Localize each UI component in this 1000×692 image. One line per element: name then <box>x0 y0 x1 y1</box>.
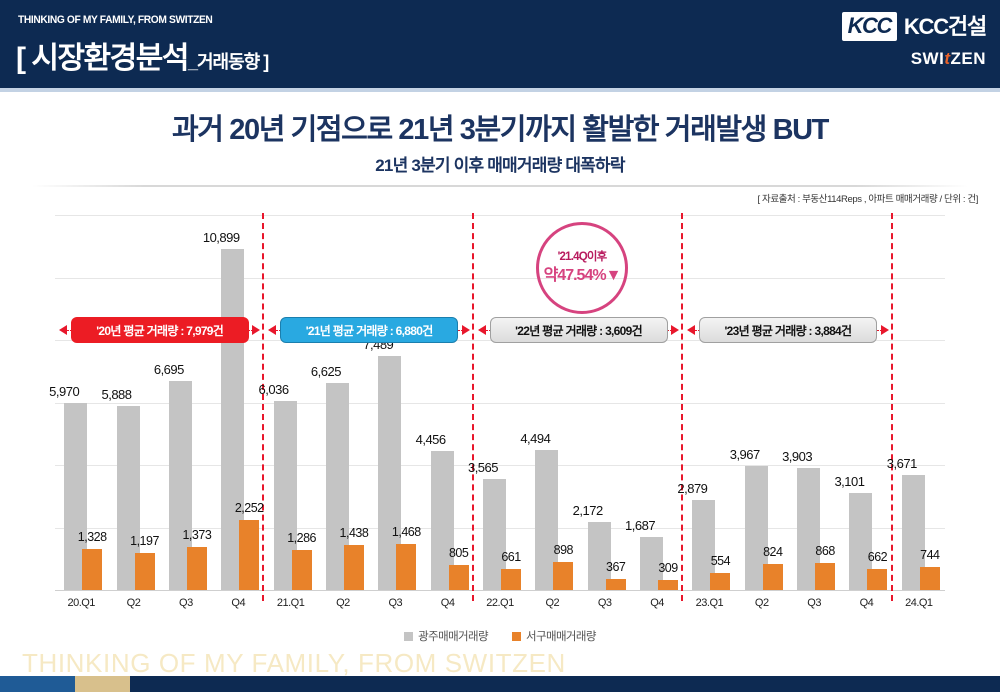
x-axis-label: Q2 <box>105 597 163 609</box>
bar-seogu[interactable] <box>763 564 783 590</box>
bar-seogu[interactable] <box>187 547 207 590</box>
bar-value-gwangju: 2,172 <box>565 503 611 518</box>
footer-accent-blue <box>0 676 75 692</box>
switzen-part2: ZEN <box>951 49 987 68</box>
x-axis-label: Q4 <box>419 597 477 609</box>
x-axis-label: 22.Q1 <box>471 597 529 609</box>
bar-value-seogu: 2,252 <box>226 501 272 515</box>
x-axis-label: Q2 <box>523 597 581 609</box>
bar-value-gwangju: 5,888 <box>94 387 140 402</box>
kcc-logo-row: KCC KCC건설 <box>842 12 986 41</box>
x-axis-label: Q3 <box>785 597 843 609</box>
arrow-right-icon <box>252 325 260 335</box>
callout-top-label: '21.4Q이후 <box>558 251 607 265</box>
bar-value-gwangju: 2,879 <box>669 481 715 496</box>
x-axis-label: Q4 <box>628 597 686 609</box>
x-axis-label: 23.Q1 <box>680 597 738 609</box>
chart-baseline <box>55 590 945 591</box>
source-note: [ 자료출처 : 부동산114Reps , 아파트 매매거래량 / 단위 : 건… <box>758 191 978 205</box>
x-axis-label: Q4 <box>837 597 895 609</box>
bar-seogu[interactable] <box>658 580 678 590</box>
year-divider <box>472 213 474 601</box>
bar-seogu[interactable] <box>292 550 312 590</box>
bar-value-gwangju: 6,695 <box>146 362 192 377</box>
bar-chart: 5,9701,32820.Q15,8881,197Q26,6951,373Q31… <box>55 215 945 590</box>
bar-value-gwangju: 5,970 <box>41 384 87 399</box>
bar-seogu[interactable] <box>867 569 887 590</box>
bar-value-seogu: 1,197 <box>122 534 168 548</box>
bar-value-gwangju: 3,671 <box>879 456 925 471</box>
x-axis-label: Q4 <box>209 597 267 609</box>
header-underline <box>0 88 1000 92</box>
legend-label: 광주매매거래량 <box>418 628 488 644</box>
bar-seogu[interactable] <box>501 569 521 590</box>
arrow-right-icon <box>881 325 889 335</box>
bar-seogu[interactable] <box>239 520 259 590</box>
bar-seogu[interactable] <box>396 544 416 590</box>
year-divider <box>262 213 264 601</box>
bar-seogu[interactable] <box>344 545 364 590</box>
bar-value-seogu: 1,328 <box>69 530 115 544</box>
kcc-logo-icon: KCC <box>842 12 897 41</box>
bar-value-seogu: 805 <box>436 546 482 560</box>
bar-value-gwangju: 4,456 <box>408 432 454 447</box>
page-title-main: [ 시장환경분석 <box>16 42 188 75</box>
switzen-part1: SWI <box>911 49 945 68</box>
bar-value-seogu: 662 <box>854 550 900 564</box>
sub-headline: 21년 3분기 이후 매매거래량 대폭하락 <box>0 151 1000 176</box>
arrow-left-icon <box>268 325 276 335</box>
slide-root: THINKING OF MY FAMILY, FROM SWITZEN [ 시장… <box>0 0 1000 692</box>
gridline <box>55 278 945 279</box>
x-axis-label: Q3 <box>157 597 215 609</box>
arrow-right-icon <box>462 325 470 335</box>
arrow-left-icon <box>687 325 695 335</box>
switzen-logo: SWItZEN <box>842 50 986 67</box>
x-axis-label: Q2 <box>733 597 791 609</box>
legend-item[interactable]: 서구매매거래량 <box>512 628 596 644</box>
bar-value-seogu: 554 <box>697 554 743 568</box>
arrow-line-left <box>486 330 490 331</box>
page-title-sub: _거래동향 ] <box>188 52 268 72</box>
bar-value-gwangju: 4,494 <box>512 431 558 446</box>
bar-seogu[interactable] <box>815 563 835 590</box>
bar-value-gwangju: 6,036 <box>251 382 297 397</box>
bar-value-seogu: 744 <box>907 548 953 562</box>
footer-tagline: THINKING OF MY FAMILY, FROM SWITZEN <box>22 648 566 679</box>
bar-seogu[interactable] <box>920 567 940 590</box>
bar-seogu[interactable] <box>449 565 469 590</box>
average-badge-2023: '23년 평균 거래량 : 3,884건 <box>699 317 877 343</box>
bar-value-seogu: 898 <box>540 543 586 557</box>
legend-swatch-icon <box>404 632 413 641</box>
bar-value-gwangju: 3,967 <box>722 447 768 462</box>
bar-value-seogu: 661 <box>488 550 534 564</box>
bar-value-gwangju: 10,899 <box>198 230 244 245</box>
bar-seogu[interactable] <box>82 549 102 591</box>
average-badge-2020: '20년 평균 거래량 : 7,979건 <box>71 317 249 343</box>
bar-value-seogu: 309 <box>645 561 691 575</box>
arrow-left-icon <box>59 325 67 335</box>
arrow-left-icon <box>478 325 486 335</box>
average-badge-2022: '22년 평균 거래량 : 3,609건 <box>490 317 668 343</box>
footer-bar <box>0 676 1000 692</box>
chart-legend: 광주매매거래량서구매매거래량 <box>0 628 1000 644</box>
x-axis-label: Q2 <box>314 597 372 609</box>
logo-group: KCC KCC건설 SWItZEN <box>842 12 986 67</box>
bar-value-seogu: 1,438 <box>331 526 377 540</box>
bar-seogu[interactable] <box>553 562 573 590</box>
x-axis-label: 21.Q1 <box>262 597 320 609</box>
bar-value-gwangju: 3,565 <box>460 460 506 475</box>
legend-swatch-icon <box>512 632 521 641</box>
bar-value-gwangju: 1,687 <box>617 518 663 533</box>
kcc-logo-text: KCC건설 <box>904 16 986 38</box>
x-axis-label: Q3 <box>576 597 634 609</box>
decline-callout: '21.4Q이후 약47.54%▼ <box>536 222 628 314</box>
bar-seogu[interactable] <box>710 573 730 590</box>
average-badge-2021: '21년 평균 거래량 : 6,880건 <box>280 317 458 343</box>
legend-item[interactable]: 광주매매거래량 <box>404 628 488 644</box>
gridline <box>55 215 945 216</box>
x-axis-label: Q3 <box>366 597 424 609</box>
bar-value-seogu: 1,468 <box>383 525 429 539</box>
bar-seogu[interactable] <box>135 553 155 590</box>
bar-value-seogu: 367 <box>593 560 639 574</box>
bar-value-seogu: 868 <box>802 544 848 558</box>
bar-value-gwangju: 3,101 <box>826 474 872 489</box>
x-axis-label: 20.Q1 <box>52 597 110 609</box>
bar-value-gwangju: 6,625 <box>303 364 349 379</box>
year-divider <box>891 213 893 601</box>
callout-main-label: 약47.54%▼ <box>544 266 621 285</box>
title-divider <box>32 185 968 187</box>
x-axis-label: 24.Q1 <box>890 597 948 609</box>
header-bar: THINKING OF MY FAMILY, FROM SWITZEN [ 시장… <box>0 0 1000 88</box>
bar-seogu[interactable] <box>606 579 626 590</box>
main-headline: 과거 20년 기점으로 21년 3분기까지 활발한 거래발생 BUT <box>0 106 1000 148</box>
page-title: [ 시장환경분석_거래동향 ] <box>16 33 268 77</box>
bar-value-gwangju: 3,903 <box>774 449 820 464</box>
footer-accent-tan <box>75 676 130 692</box>
header-tagline: THINKING OF MY FAMILY, FROM SWITZEN <box>18 14 212 26</box>
bar-value-seogu: 1,286 <box>279 531 325 545</box>
bar-value-seogu: 1,373 <box>174 528 220 542</box>
legend-label: 서구매매거래량 <box>526 628 596 644</box>
year-divider <box>681 213 683 601</box>
arrow-right-icon <box>671 325 679 335</box>
bar-value-seogu: 824 <box>750 545 796 559</box>
